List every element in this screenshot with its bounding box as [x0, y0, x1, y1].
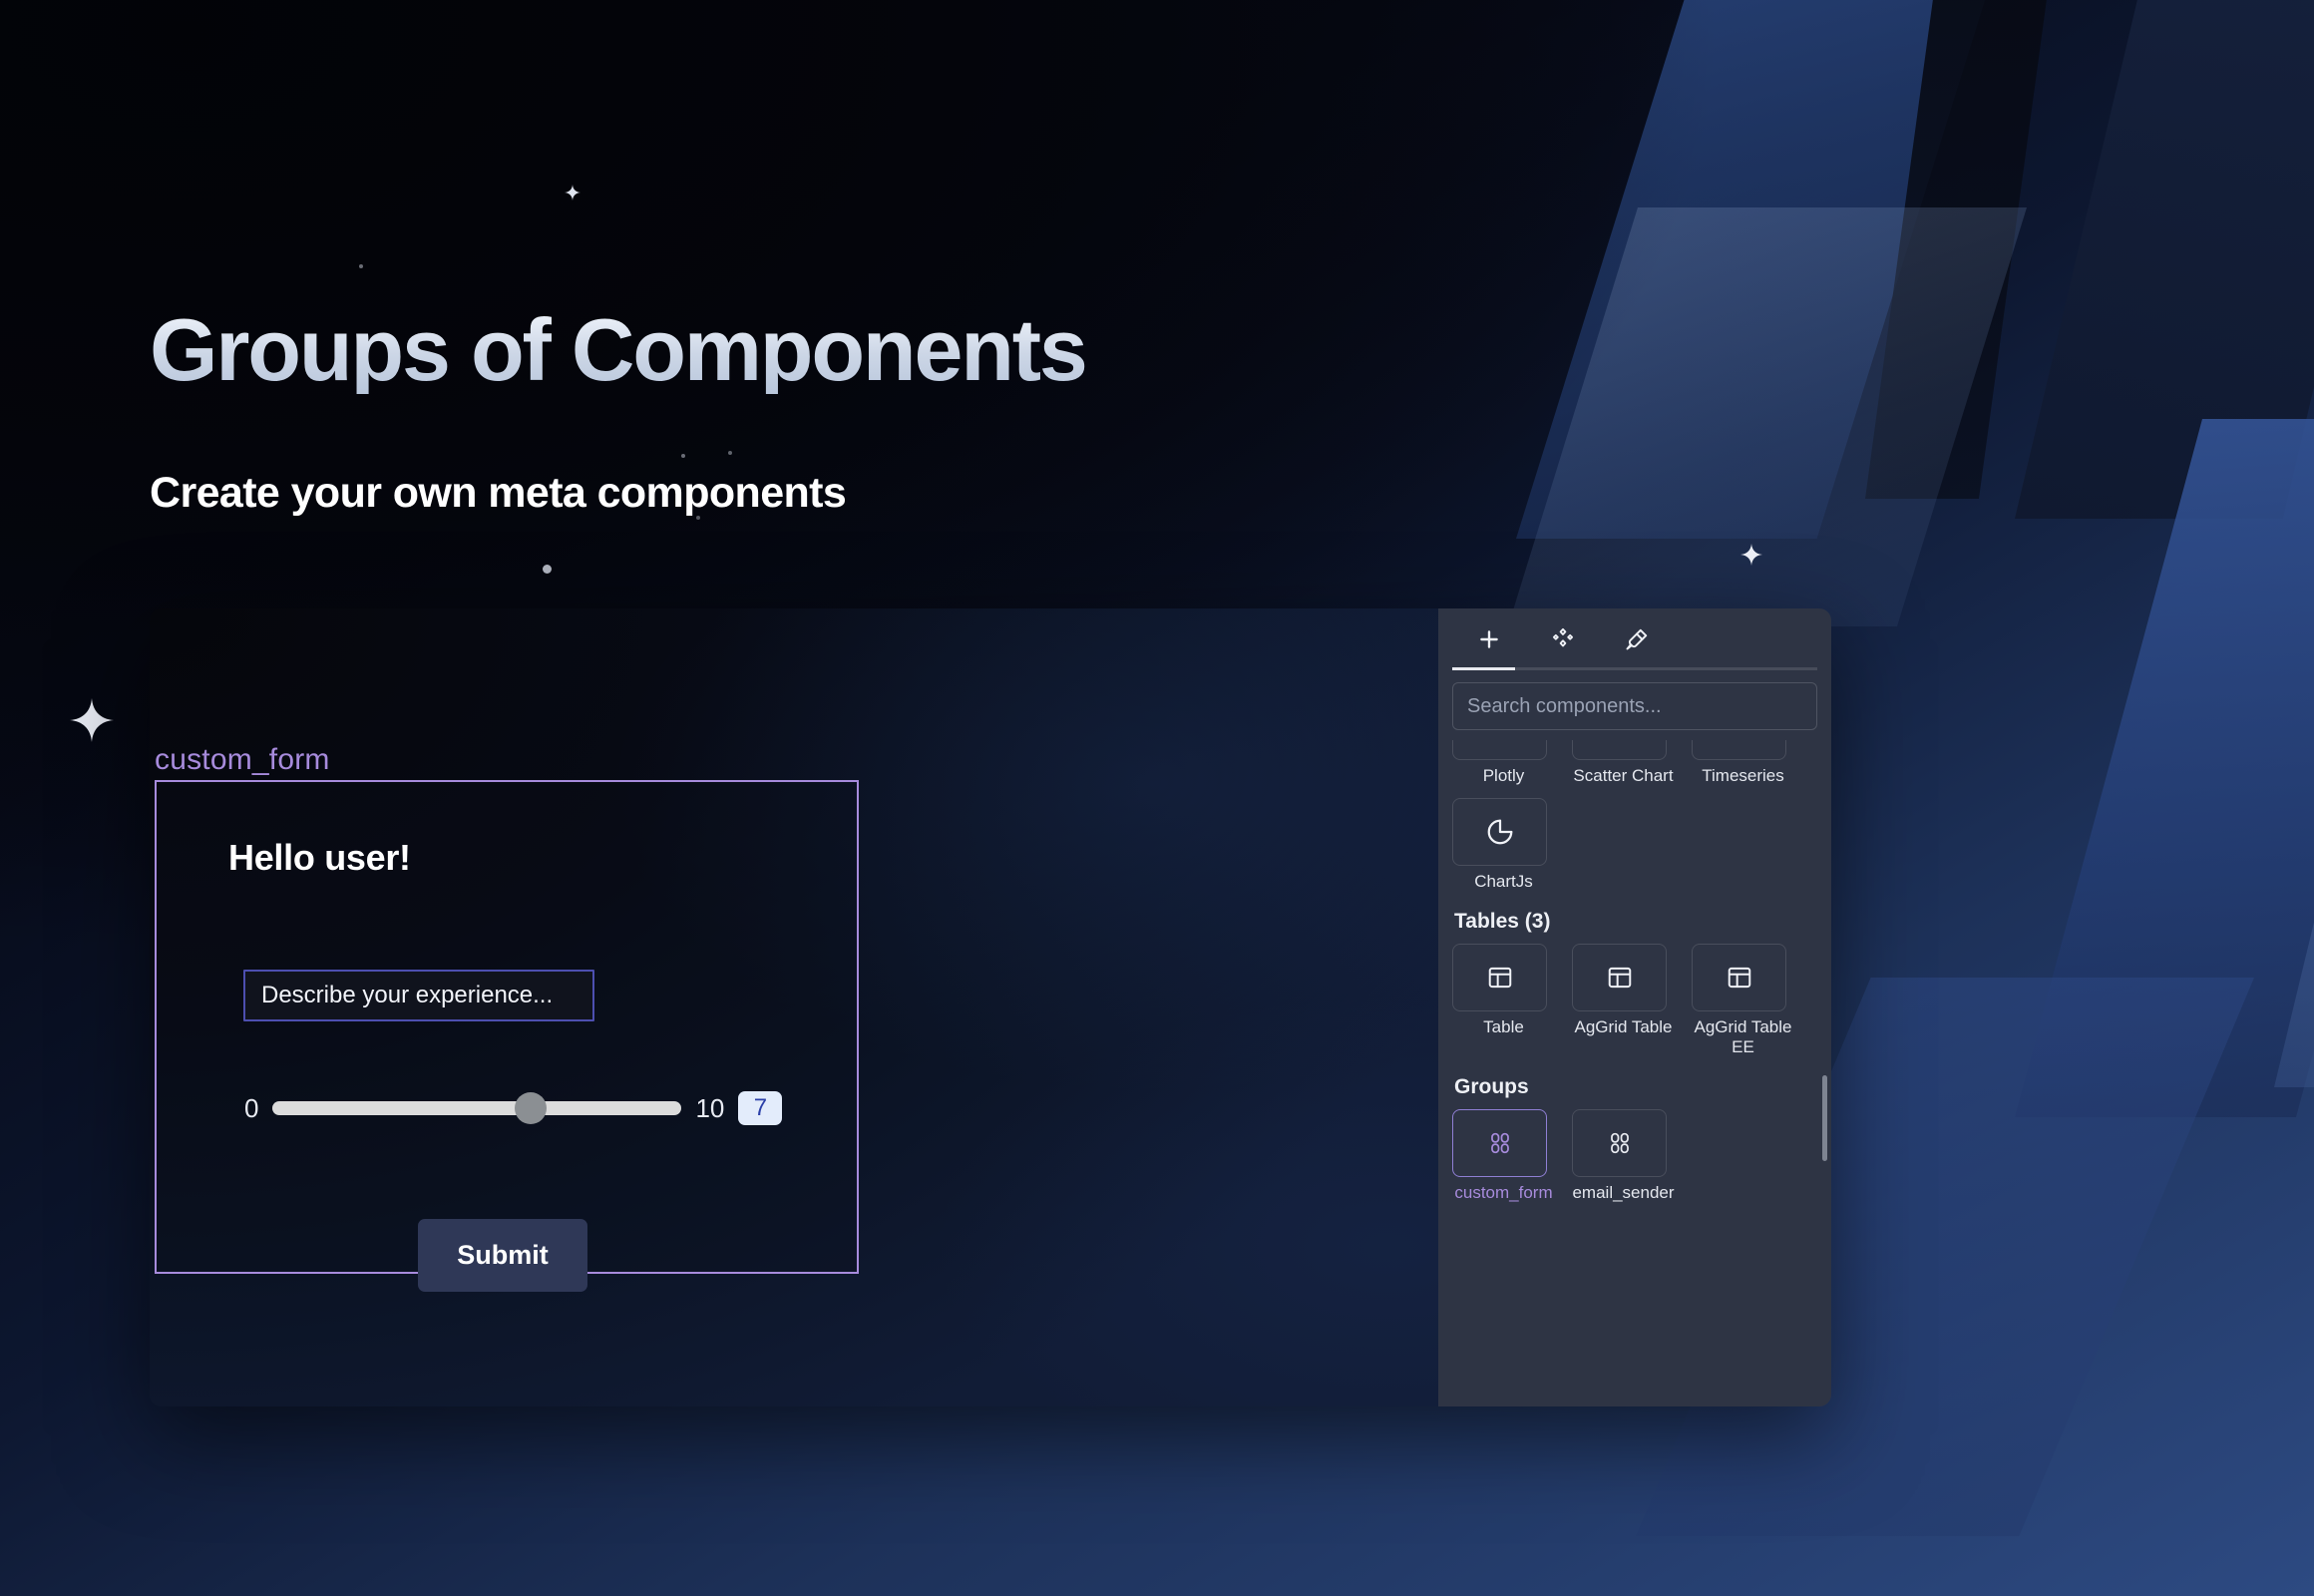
palette-item-icon-box[interactable] [1452, 1109, 1547, 1177]
table-icon [1486, 964, 1514, 992]
palette-item-icon-box[interactable] [1452, 798, 1547, 866]
star-dot [681, 454, 685, 458]
palette-item-icon-box[interactable] [1572, 944, 1667, 1011]
submit-button[interactable]: Submit [418, 1219, 587, 1292]
table-icon [1726, 964, 1753, 992]
experience-input[interactable] [243, 970, 594, 1021]
slider-value-badge: 7 [738, 1091, 782, 1125]
star-dot [728, 451, 732, 455]
scatter-dots-icon [1605, 740, 1635, 741]
palette-item-email-sender[interactable]: email_sender [1572, 1109, 1682, 1203]
paintbrush-icon [1624, 626, 1650, 652]
group-boundary[interactable]: Hello user! 0 10 7 Submit [155, 780, 859, 1274]
palette-section-charts: Plotly [1452, 740, 1817, 786]
tab-ai-assistant[interactable] [1526, 608, 1600, 670]
palette-item-label: ChartJs [1452, 872, 1555, 892]
tab-theme-styles[interactable] [1600, 608, 1674, 670]
palette-item-label: Table [1452, 1017, 1555, 1037]
rating-slider-row: 0 10 7 [244, 1091, 782, 1125]
palette-item-icon-box[interactable] [1452, 740, 1547, 760]
page-subtitle: Create your own meta components [150, 469, 846, 518]
palette-item-chartjs[interactable]: ChartJs [1452, 798, 1562, 892]
palette-section-tables: Table AgGrid Tab [1452, 944, 1817, 1057]
panel-tabbar [1438, 608, 1831, 670]
page-title: Groups of Components [150, 306, 1086, 394]
palette-item-custom-form[interactable]: custom_form [1452, 1109, 1562, 1203]
slider-min-label: 0 [244, 1093, 258, 1124]
palette-item-label: email_sender [1572, 1183, 1675, 1203]
group-icon [1487, 1130, 1513, 1156]
hexagon-shape-light [1508, 207, 2027, 626]
group-name-label: custom_form [155, 743, 330, 777]
palette-item-label: Plotly [1452, 766, 1555, 786]
sparkle-icon [565, 185, 580, 200]
palette-item-plotly[interactable]: Plotly [1452, 740, 1562, 786]
palette-item-label: Scatter Chart [1572, 766, 1675, 786]
palette-item-icon-box[interactable] [1692, 740, 1786, 760]
scatter-dots-icon [1725, 740, 1754, 741]
palette-item-label: AgGrid Table EE [1692, 1017, 1794, 1057]
palette-section-title-groups: Groups [1454, 1075, 1817, 1099]
group-icon [1607, 1130, 1633, 1156]
palette-item-icon-box[interactable] [1572, 1109, 1667, 1177]
palette-item-scatter-chart[interactable]: Scatter Chart [1572, 740, 1682, 786]
sparkles-icon [1550, 626, 1576, 652]
sparkle-icon [70, 698, 114, 742]
pie-chart-icon [1485, 817, 1515, 847]
star-dot [543, 565, 552, 574]
page-root: Groups of Components Create your own met… [0, 0, 2314, 1596]
plus-icon [1476, 626, 1502, 652]
sparkle-icon [1740, 544, 1762, 566]
palette-item-icon-box[interactable] [1572, 740, 1667, 760]
palette-scrollbar[interactable] [1822, 1075, 1827, 1161]
palette-item-label: custom_form [1452, 1183, 1555, 1203]
palette-item-icon-box[interactable] [1452, 944, 1547, 1011]
search-container [1438, 670, 1831, 740]
slider-thumb[interactable] [515, 1092, 547, 1124]
palette-item-aggrid-table-ee[interactable]: AgGrid Table EE [1692, 944, 1801, 1057]
form-heading: Hello user! [228, 837, 411, 879]
search-input[interactable] [1452, 682, 1817, 730]
palette-item-aggrid-table[interactable]: AgGrid Table [1572, 944, 1682, 1057]
palette-section-groups: custom_form [1452, 1109, 1817, 1203]
palette-item-label: Timeseries [1692, 766, 1794, 786]
pie-chart-icon [1485, 740, 1515, 741]
component-palette[interactable]: Plotly [1438, 740, 1831, 1406]
table-icon [1606, 964, 1634, 992]
tab-add-component[interactable] [1452, 608, 1526, 670]
palette-item-label: AgGrid Table [1572, 1017, 1675, 1037]
palette-item-icon-box[interactable] [1692, 944, 1786, 1011]
tabbar-active-indicator [1452, 667, 1515, 670]
component-panel: Plotly [1438, 608, 1831, 1406]
slider-max-label: 10 [695, 1093, 724, 1124]
palette-item-table[interactable]: Table [1452, 944, 1562, 1057]
star-dot [359, 264, 363, 268]
palette-section-title-tables: Tables (3) [1454, 910, 1817, 934]
palette-section-chartjs: ChartJs [1452, 798, 1817, 892]
rating-slider[interactable] [272, 1101, 681, 1115]
palette-item-timeseries[interactable]: Timeseries [1692, 740, 1801, 786]
